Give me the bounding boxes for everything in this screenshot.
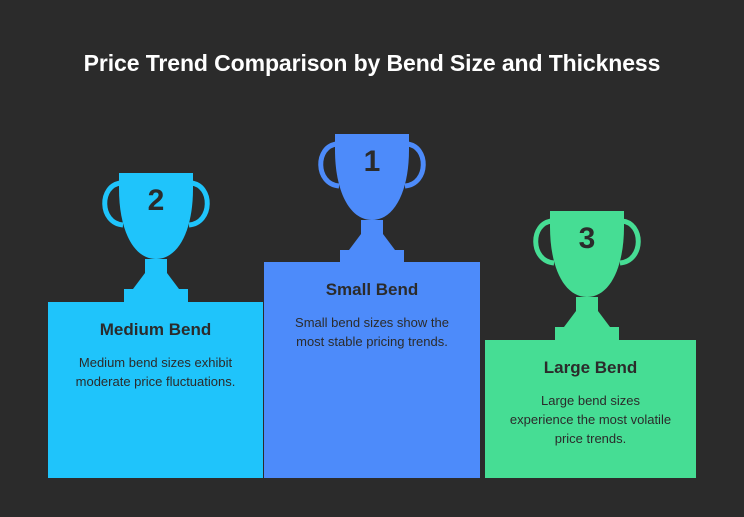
trophy-rank-number: 1 (364, 145, 381, 178)
podium-block-medium-bend: Medium Bend Medium bend sizes exhibit mo… (48, 302, 263, 478)
podium-title-medium-bend: Medium Bend (48, 320, 263, 340)
page-title: Price Trend Comparison by Bend Size and … (0, 50, 744, 77)
trophy-rank-number: 3 (579, 222, 596, 255)
trophy-rank-number: 2 (148, 184, 165, 217)
podium-description-large-bend: Large bend sizes experience the most vol… (508, 392, 674, 449)
podium-title-large-bend: Large Bend (485, 358, 696, 378)
infographic-canvas: Price Trend Comparison by Bend Size and … (0, 0, 744, 517)
podium-description-medium-bend: Medium bend sizes exhibit moderate price… (76, 354, 236, 392)
podium-title-small-bend: Small Bend (264, 280, 480, 300)
podium-block-large-bend: Large Bend Large bend sizes experience t… (485, 340, 696, 478)
trophy-icon-rank-3: 3 (526, 205, 648, 345)
trophy-icon-rank-2: 2 (95, 167, 217, 307)
trophy-icon-rank-1: 1 (311, 128, 433, 268)
podium-description-small-bend: Small bend sizes show the most stable pr… (288, 314, 456, 352)
podium-block-small-bend: Small Bend Small bend sizes show the mos… (264, 262, 480, 478)
